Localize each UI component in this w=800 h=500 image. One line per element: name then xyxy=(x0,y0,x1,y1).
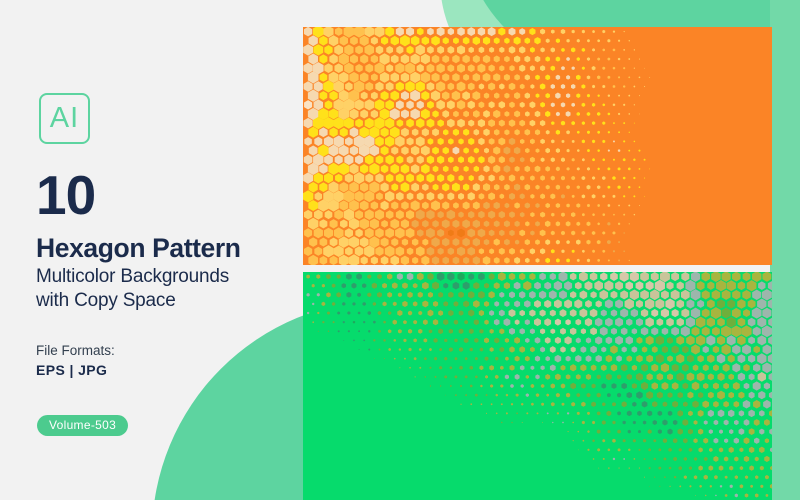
green-pattern-canvas xyxy=(303,272,772,500)
file-formats-value: EPS | JPG xyxy=(36,363,107,377)
file-formats-label: File Formats: xyxy=(36,344,115,358)
volume-badge: Volume-503 xyxy=(37,415,128,436)
right-edge-band-decoration xyxy=(770,0,800,500)
page-title: Hexagon Pattern xyxy=(36,234,241,263)
info-column: AI 10 Hexagon Pattern Multicolor Backgro… xyxy=(0,0,300,500)
orange-hexagon-pattern-preview xyxy=(303,27,772,265)
page-subtitle-line-2: with Copy Space xyxy=(36,289,229,313)
page-subtitle-line-1: Multicolor Backgrounds xyxy=(36,265,229,289)
green-hexagon-pattern-preview xyxy=(303,272,772,500)
page-subtitle: Multicolor Backgrounds with Copy Space xyxy=(36,265,229,314)
poster-canvas: AI 10 Hexagon Pattern Multicolor Backgro… xyxy=(0,0,800,500)
item-count: 10 xyxy=(36,168,95,223)
orange-pattern-canvas xyxy=(303,27,772,265)
ai-format-badge-label: AI xyxy=(50,104,79,133)
ai-format-badge: AI xyxy=(39,93,90,144)
